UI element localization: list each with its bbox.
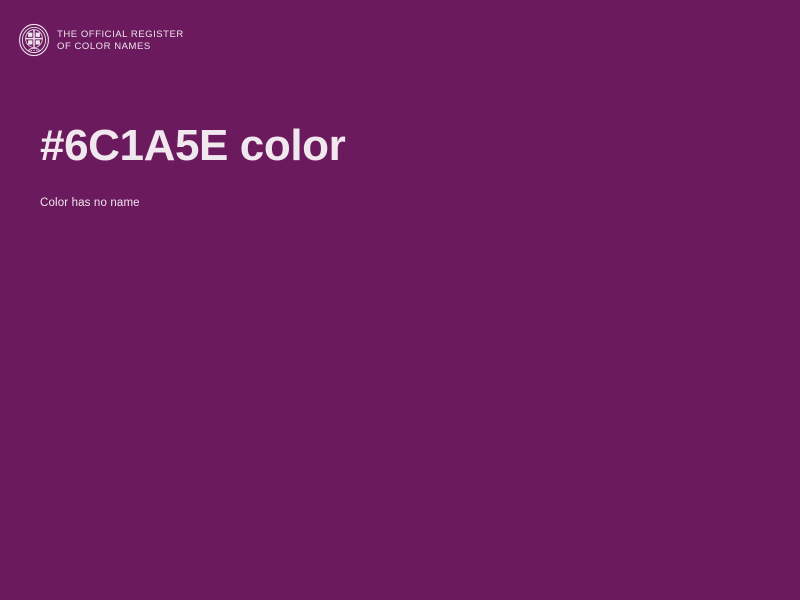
brand-line-1: THE OFFICIAL REGISTER (57, 29, 184, 41)
brand-wordmark: THE OFFICIAL REGISTER OF COLOR NAMES (57, 28, 184, 52)
brand-line-2: OF COLOR NAMES (57, 41, 184, 53)
brand-logo[interactable]: THE OFFICIAL REGISTER OF COLOR NAMES (18, 23, 184, 57)
register-seal-icon (18, 23, 50, 57)
color-name-status: Color has no name (40, 196, 760, 211)
page-title: #6C1A5E color (40, 120, 760, 172)
color-page: THE OFFICIAL REGISTER OF COLOR NAMES #6C… (0, 0, 800, 600)
color-info: #6C1A5E color Color has no name (40, 120, 760, 211)
